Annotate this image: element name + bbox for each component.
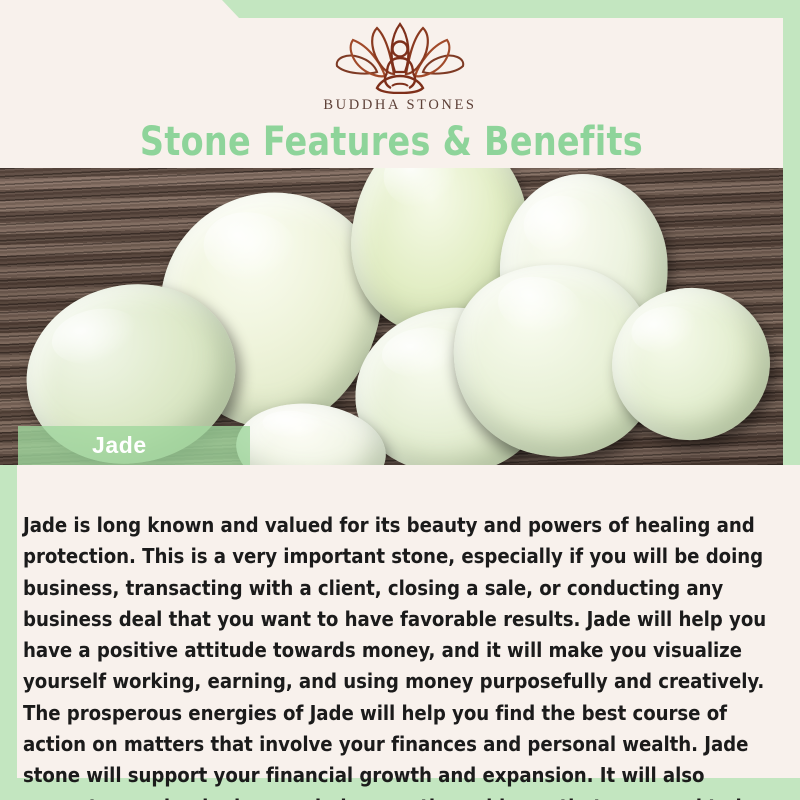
green-accent-top-band [213, 0, 800, 18]
brand-wordmark: BUDDHA STONES [0, 97, 800, 114]
page-title: Stone Features & Benefits [0, 119, 783, 165]
stone-benefits-infographic: BUDDHA STONES Stone Features & Benefits … [0, 0, 800, 800]
green-accent-left-band [0, 462, 18, 778]
lotus-meditation-icon [325, 22, 475, 94]
page-title-text: Stone Features & Benefits [140, 119, 643, 165]
brand-logo: BUDDHA STONES [0, 22, 800, 114]
stone-name-label: Jade [18, 432, 147, 459]
description-text: Jade is long known and valued for its be… [17, 510, 789, 800]
stone-photo [0, 168, 783, 465]
stone-name-banner: Jade [18, 426, 250, 465]
